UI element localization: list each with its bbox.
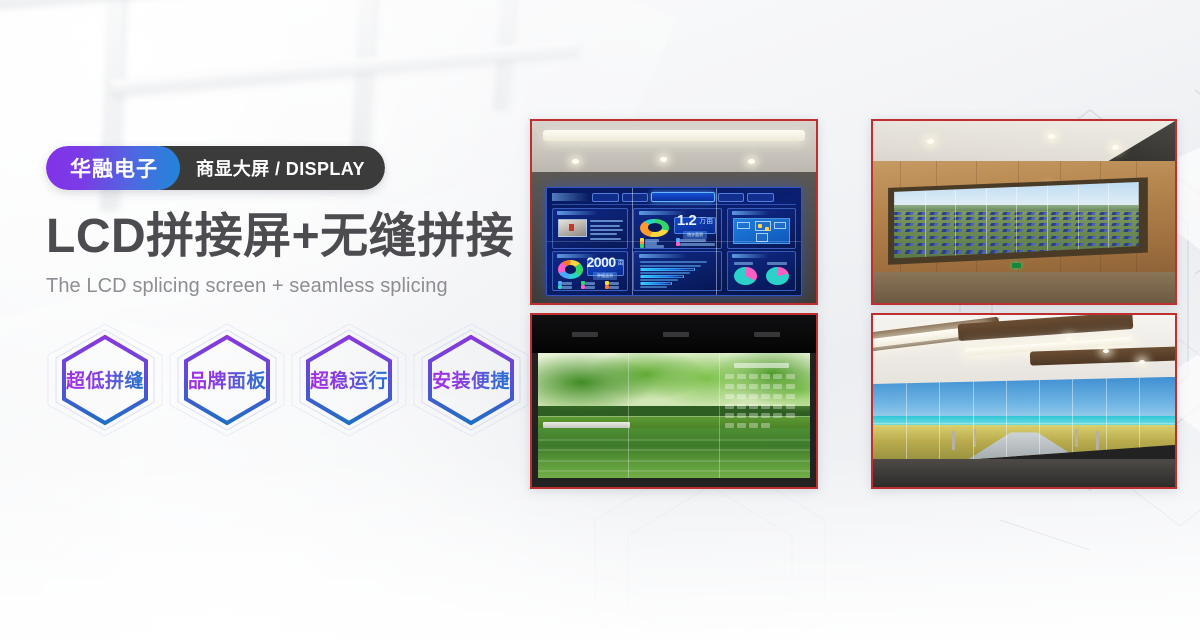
bezel-logo	[663, 332, 689, 337]
gallery-photo-beach[interactable]	[871, 313, 1177, 489]
stat-sublabel: 种植面积	[593, 272, 617, 280]
flow-node	[737, 222, 750, 229]
promo-banner: 华融电子 商显大屏 / DISPLAY LCD拼接屏+无缝拼接 The LCD …	[0, 0, 1200, 640]
donut-chart	[640, 219, 669, 237]
pie-chart	[766, 267, 789, 285]
videowall-seam	[1047, 182, 1048, 258]
ceiling-beam	[110, 40, 579, 95]
bar-row	[640, 279, 678, 281]
legend-label	[645, 245, 664, 248]
scene-pond	[538, 428, 811, 478]
legend-dot	[640, 244, 644, 248]
tile-text-line	[590, 238, 621, 240]
bar-row	[640, 275, 684, 277]
legend-label	[609, 282, 619, 285]
flow-node	[774, 222, 786, 229]
page-subtitle: The LCD splicing screen + seamless splic…	[46, 275, 546, 298]
legend-label	[562, 282, 572, 285]
dashboard-tile	[727, 208, 795, 249]
brand-name: 华融电子	[46, 146, 180, 190]
tile-text-line	[590, 225, 620, 227]
tile-thumbnail	[558, 219, 588, 237]
corridor-floor	[873, 272, 1175, 303]
calendar-overlay	[723, 363, 799, 433]
stat-value: 2000	[587, 255, 616, 269]
feature-badge[interactable]: 品牌面板	[168, 324, 286, 436]
dashboard-tile: 2000 亩 种植面积	[552, 251, 628, 292]
garden-videowall	[538, 353, 811, 479]
downlight	[1048, 134, 1055, 139]
stat-card-primary: 1.2 万亩 统计面积	[674, 217, 716, 233]
videowall-bezel	[532, 315, 816, 353]
flow-marker	[758, 224, 762, 228]
dashboard-nav-tab[interactable]	[622, 193, 649, 202]
tile-text-line	[590, 220, 623, 222]
tile-header	[732, 211, 769, 215]
tile-header	[639, 254, 688, 258]
dashboard-nav-tab[interactable]	[718, 193, 745, 202]
calendar-title	[734, 363, 789, 369]
feature-badge[interactable]: 超稳运行	[290, 324, 408, 436]
hero-content: 华融电子 商显大屏 / DISPLAY LCD拼接屏+无缝拼接 The LCD …	[46, 146, 546, 436]
legend-label	[585, 286, 595, 289]
dashboard-title-tab[interactable]	[651, 192, 714, 202]
videowall-seam	[1078, 182, 1079, 258]
stat-unit: 亩	[618, 258, 624, 269]
exit-sign-icon	[1012, 263, 1021, 268]
gallery-photo-garden[interactable]	[530, 313, 818, 489]
legend-label	[734, 262, 754, 265]
brand-category: 商显大屏 / DISPLAY	[160, 146, 385, 190]
legend-label	[767, 262, 787, 265]
tile-header	[557, 211, 598, 215]
videowall-seam	[925, 182, 926, 258]
dashboard-videowall: 1.2 万亩 统计面积	[546, 187, 802, 296]
tile-text-line	[590, 229, 623, 231]
bar-row	[640, 268, 696, 270]
legend-label	[680, 243, 715, 246]
videowall-seam	[1108, 182, 1109, 258]
feature-badge[interactable]: 安装便捷	[412, 324, 530, 436]
legend-label	[609, 286, 619, 289]
donut-chart	[558, 260, 583, 279]
stat-unit: 万亩	[699, 216, 713, 228]
brand-pill: 华融电子 商显大屏 / DISPLAY	[46, 146, 385, 190]
videowall-seam	[986, 182, 987, 258]
cove-light	[543, 130, 804, 141]
stat-value: 1.2	[677, 213, 696, 228]
bar-list-chart	[640, 261, 716, 288]
dashboard-tile	[727, 251, 795, 292]
gallery-photo-solar[interactable]	[871, 119, 1177, 305]
legend-label	[562, 286, 572, 289]
videowall-seam	[538, 416, 811, 417]
solar-videowall	[894, 182, 1139, 258]
beach-videowall	[873, 377, 1175, 466]
dashboard-tile	[552, 208, 628, 249]
dashboard-nav-tab[interactable]	[592, 193, 619, 202]
stat-sublabel: 统计面积	[683, 231, 707, 239]
feature-badge-label: 安装便捷	[432, 366, 510, 393]
page-title: LCD拼接屏+无缝拼接	[46, 212, 546, 263]
dashboard-tile: 1.2 万亩 统计面积	[633, 208, 722, 249]
bezel-logo	[754, 332, 780, 337]
bar-row	[640, 265, 701, 267]
tile-header	[732, 254, 769, 258]
bar-row	[640, 286, 667, 288]
feature-badge[interactable]: 超低拼缝	[46, 324, 164, 436]
dashboard-nav-tab[interactable]	[747, 193, 774, 202]
hall-floor	[873, 459, 1175, 487]
videowall-seam	[955, 182, 956, 258]
bezel-logo	[572, 332, 598, 337]
feature-badge-label: 超稳运行	[310, 366, 388, 393]
gallery-photo-dashboard[interactable]: 1.2 万亩 统计面积	[530, 119, 818, 305]
stat-card-secondary: 2000 亩 种植面积	[587, 259, 624, 275]
dashboard-timestamp	[552, 193, 589, 201]
pie-chart	[734, 267, 757, 285]
videowall-seam	[547, 241, 801, 242]
feature-badge-label: 品牌面板	[188, 366, 266, 393]
videowall-seam	[1016, 182, 1017, 258]
ceiling-beam	[493, 0, 521, 110]
bar-row	[640, 261, 707, 263]
downlight	[1139, 360, 1145, 364]
dashboard-topbar	[552, 191, 795, 205]
flow-marker	[765, 227, 769, 231]
feature-badge-label: 超低拼缝	[66, 366, 144, 393]
feature-badge-list: 超低拼缝 品牌面板	[46, 324, 546, 436]
bar-row	[640, 272, 690, 274]
ceiling-beam	[0, 0, 500, 10]
downlight	[1112, 145, 1119, 150]
dashboard-tile	[633, 251, 722, 292]
tile-text-line	[590, 233, 617, 235]
bar-row	[640, 282, 673, 284]
legend-label	[585, 282, 595, 285]
ceiling-beam	[351, 0, 379, 150]
